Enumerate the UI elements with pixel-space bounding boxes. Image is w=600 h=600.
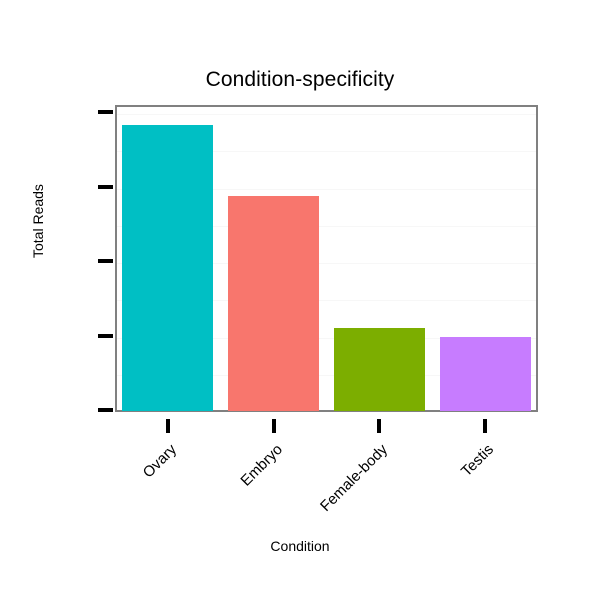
bar-female-body: [334, 328, 425, 411]
y-tick-mark: [98, 110, 113, 114]
y-tick-mark: [98, 408, 113, 412]
bar-testis: [440, 337, 531, 412]
y-tick-mark: [98, 259, 113, 263]
x-tick-mark: [483, 419, 487, 433]
y-tick-mark: [98, 185, 113, 189]
x-tick-mark: [377, 419, 381, 433]
plot-panel: [115, 105, 538, 412]
chart-figure: Condition-specificity Total Reads 025507…: [0, 0, 600, 600]
x-tick-mark: [166, 419, 170, 433]
bar-ovary: [122, 125, 213, 411]
y-tick-mark: [98, 334, 113, 338]
x-tick-mark: [272, 419, 276, 433]
grid-line: [117, 114, 536, 115]
bar-embryo: [228, 196, 319, 411]
